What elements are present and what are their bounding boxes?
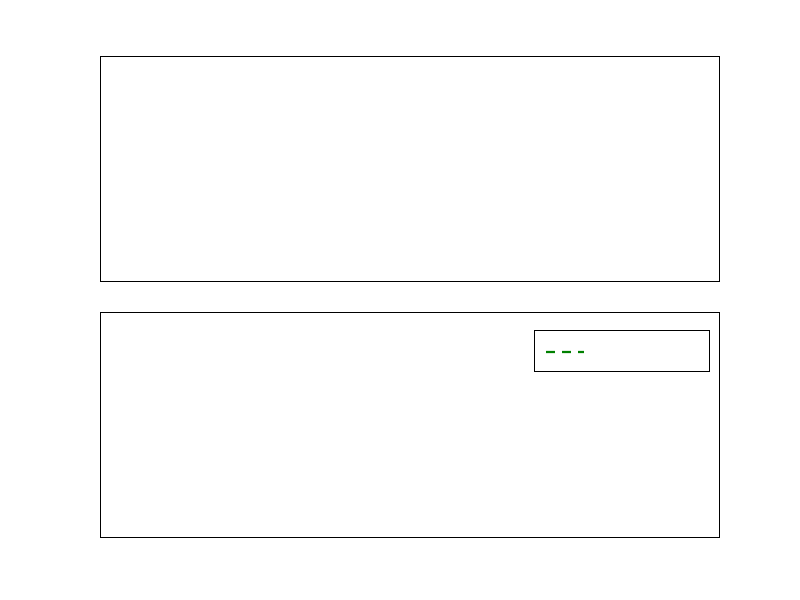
differential-histogram-plot bbox=[100, 56, 720, 282]
cumulative-histogram-axes bbox=[100, 312, 720, 538]
differential-histogram-axes bbox=[100, 56, 720, 282]
figure-canvas bbox=[0, 0, 800, 600]
legend[interactable] bbox=[534, 330, 710, 372]
legend-swatch-mag-limit bbox=[545, 344, 585, 358]
